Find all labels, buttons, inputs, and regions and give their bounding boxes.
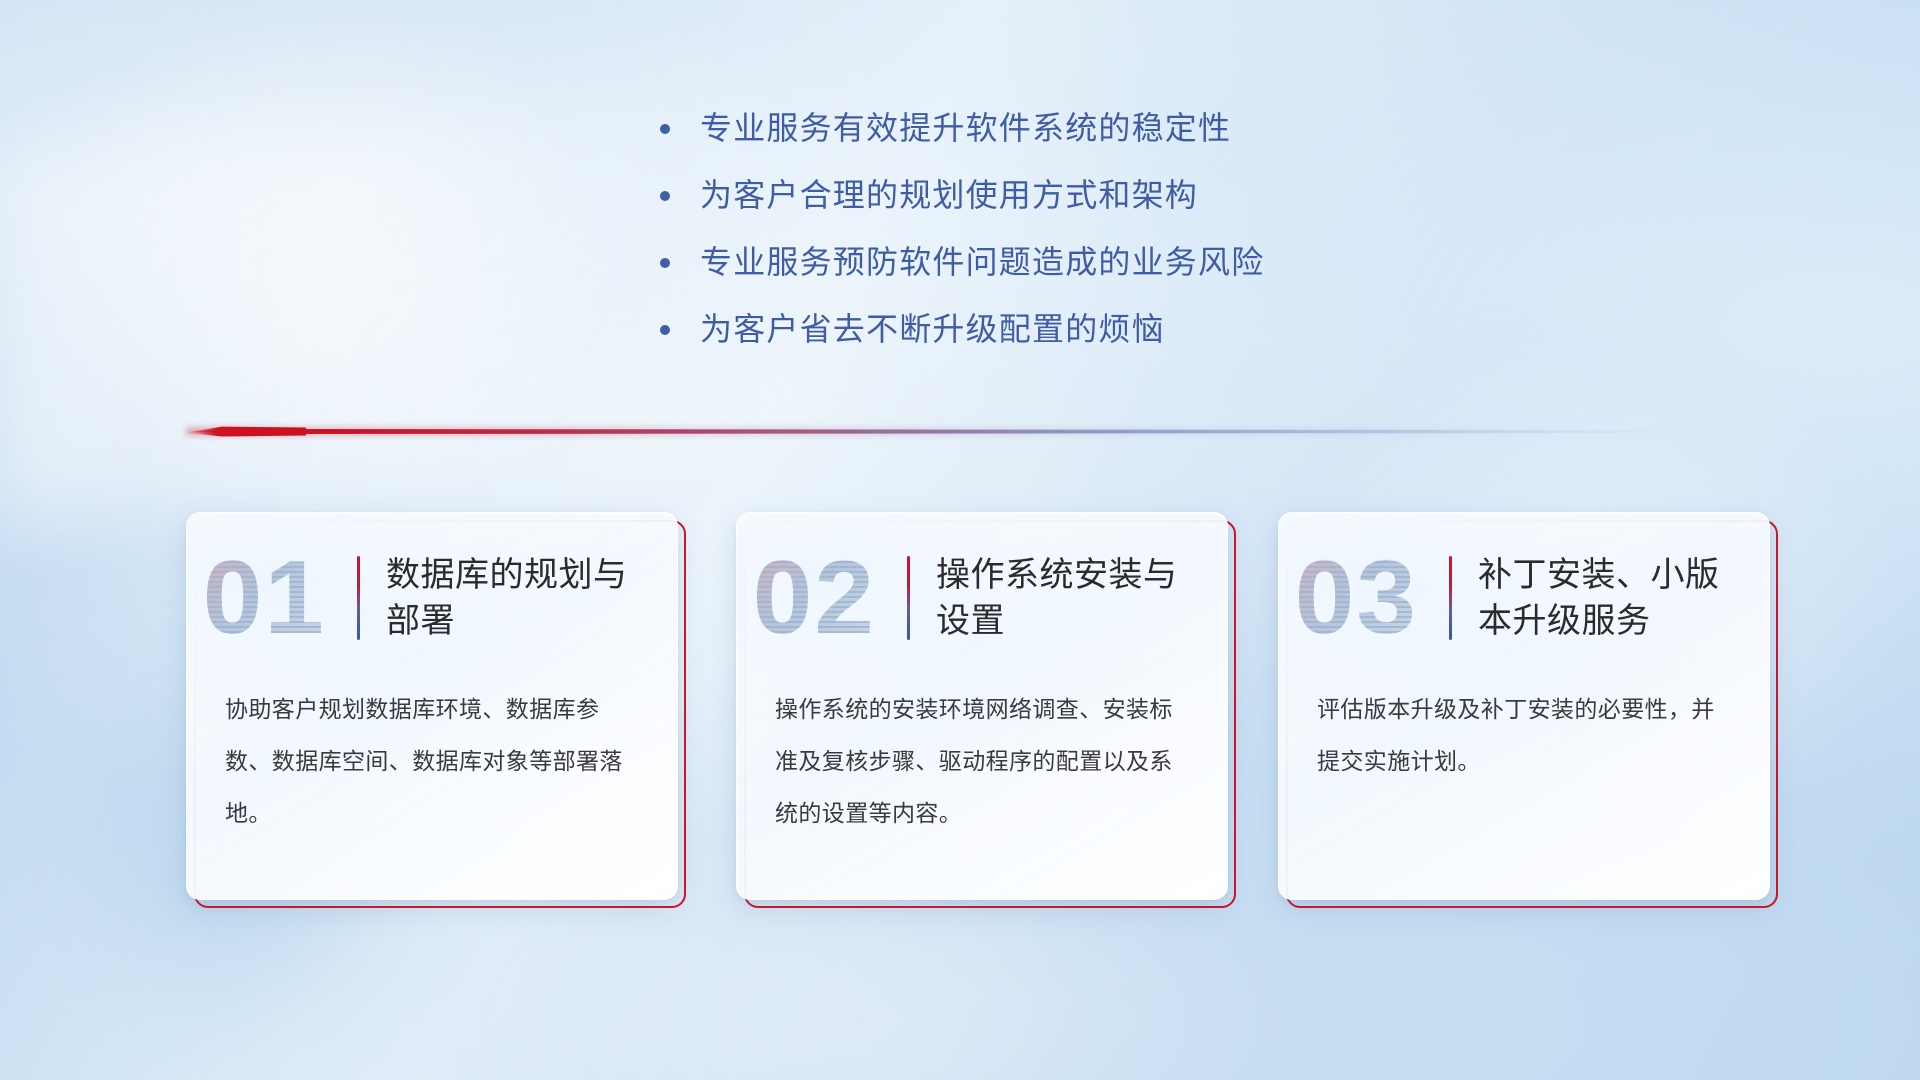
divider-wedge xyxy=(186,426,306,437)
card-header: 03 补丁安装、小版本升级服务 xyxy=(1279,513,1769,683)
bullet-text: 专业服务有效提升软件系统的稳定性 xyxy=(700,108,1231,148)
bullet-item: 专业服务预防软件问题造成的业务风险 xyxy=(660,242,1480,282)
card-header: 02 操作系统安装与设置 xyxy=(737,513,1227,683)
service-card[interactable]: 01 01 数据库的规划与部署 协助客户规划数据库环境、数据库参数、数据库空间、… xyxy=(186,512,678,900)
bullet-text: 为客户合理的规划使用方式和架构 xyxy=(700,175,1198,215)
card-row: 01 01 数据库的规划与部署 协助客户规划数据库环境、数据库参数、数据库空间、… xyxy=(0,512,1920,932)
bullet-item: 为客户合理的规划使用方式和架构 xyxy=(660,175,1480,215)
card-number: 01 xyxy=(203,546,360,650)
card-body-text: 协助客户规划数据库环境、数据库参数、数据库空间、数据库对象等部署落地。 xyxy=(187,683,677,839)
card-title: 操作系统安装与设置 xyxy=(936,552,1186,644)
card-face: 03 03 补丁安装、小版本升级服务 评估版本升级及补丁安装的必要性，并提交实施… xyxy=(1278,512,1770,900)
bullet-item: 专业服务有效提升软件系统的稳定性 xyxy=(660,108,1480,148)
bullet-dot-icon xyxy=(660,124,670,134)
divider-glow xyxy=(186,427,1734,436)
bullet-text: 专业服务预防软件问题造成的业务风险 xyxy=(700,242,1264,282)
service-card[interactable]: 02 02 操作系统安装与设置 操作系统的安装环境网络调查、安装标准及复核步骤、… xyxy=(736,512,1228,900)
bullet-item: 为客户省去不断升级配置的烦恼 xyxy=(660,309,1480,349)
card-title: 数据库的规划与部署 xyxy=(386,552,636,644)
card-number: 03 xyxy=(1295,546,1452,650)
card-header: 01 数据库的规划与部署 xyxy=(187,513,677,683)
bullet-dot-icon xyxy=(660,325,670,335)
card-number: 02 xyxy=(753,546,910,650)
service-card[interactable]: 03 03 补丁安装、小版本升级服务 评估版本升级及补丁安装的必要性，并提交实施… xyxy=(1278,512,1770,900)
card-body-text: 操作系统的安装环境网络调查、安装标准及复核步骤、驱动程序的配置以及系统的设置等内… xyxy=(737,683,1227,839)
card-body-text: 评估版本升级及补丁安装的必要性，并提交实施计划。 xyxy=(1279,683,1769,787)
divider-line xyxy=(186,429,1734,434)
bullet-text: 为客户省去不断升级配置的烦恼 xyxy=(700,309,1165,349)
bullet-dot-icon xyxy=(660,258,670,268)
section-divider xyxy=(186,420,1734,442)
bullet-list: 专业服务有效提升软件系统的稳定性 为客户合理的规划使用方式和架构 专业服务预防软… xyxy=(660,108,1480,376)
card-face: 01 01 数据库的规划与部署 协助客户规划数据库环境、数据库参数、数据库空间、… xyxy=(186,512,678,900)
bullet-dot-icon xyxy=(660,191,670,201)
slide-canvas: 专业服务有效提升软件系统的稳定性 为客户合理的规划使用方式和架构 专业服务预防软… xyxy=(0,0,1920,1080)
card-title: 补丁安装、小版本升级服务 xyxy=(1478,552,1728,644)
card-face: 02 02 操作系统安装与设置 操作系统的安装环境网络调查、安装标准及复核步骤、… xyxy=(736,512,1228,900)
